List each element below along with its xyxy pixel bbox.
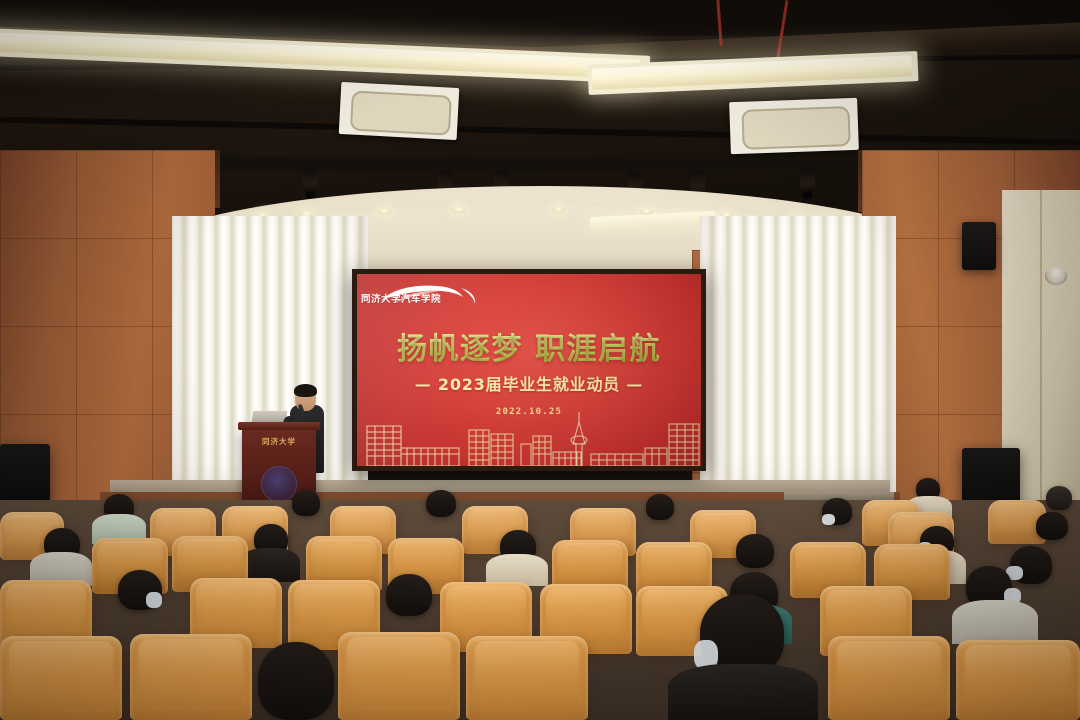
auditorium-seat (130, 634, 252, 720)
auditorium-seat (828, 636, 950, 720)
recessed-downlight (378, 208, 391, 215)
presenter-hair (294, 384, 317, 397)
seated-attendee (646, 494, 674, 520)
slide-subtitle: — 2023届毕业生就业动员 — (357, 371, 701, 395)
seated-attendee (1046, 486, 1072, 510)
slide-logo-text: 同济大学汽车学院 (361, 291, 441, 305)
ceiling-ac-vent (729, 98, 859, 154)
ceiling-ac-vent (339, 82, 460, 140)
face-mask (146, 592, 162, 608)
podium-top-surface (238, 422, 320, 430)
auditorium-seat (466, 636, 588, 720)
university-emblem (261, 466, 297, 502)
stage-curtain-right (700, 216, 896, 516)
seated-attendee (386, 574, 432, 616)
auditorium-seat (956, 640, 1080, 720)
seated-attendee (668, 664, 818, 720)
slide-title: 扬帆逐梦 职涯启航 (357, 324, 701, 368)
dome-security-camera (1045, 268, 1067, 285)
seated-attendee (240, 548, 300, 582)
stage-spotlight (800, 168, 815, 194)
auditorium-seat (0, 636, 122, 720)
seated-attendee (952, 600, 1038, 644)
podium-inscription: 同济大学 (242, 436, 316, 447)
auditorium-photo: 同济大学汽车学院 扬帆逐梦 职涯启航 — 2023届毕业生就业动员 — 2022… (0, 0, 1080, 720)
seated-attendee (426, 490, 456, 517)
recessed-downlight (640, 208, 653, 215)
seated-attendee (258, 642, 334, 720)
seated-attendee (1036, 512, 1068, 540)
seated-attendee (736, 534, 774, 568)
projection-screen: 同济大学汽车学院 扬帆逐梦 职涯启航 — 2023届毕业生就业动员 — 2022… (357, 274, 701, 466)
sprinkler-pipe (0, 117, 1080, 146)
recessed-downlight (452, 206, 465, 213)
wall-mounted-loudspeaker (962, 222, 996, 270)
face-mask (822, 514, 835, 525)
stage-spotlight (303, 168, 318, 194)
floor-standing-loudspeaker-left (0, 444, 50, 506)
auditorium-seat (338, 632, 460, 720)
recessed-downlight (552, 206, 565, 213)
seated-attendee (292, 490, 320, 516)
projection-screen-frame: 同济大学汽车学院 扬帆逐梦 职涯启航 — 2023届毕业生就业动员 — 2022… (352, 269, 706, 471)
city-skyline-silhouette (357, 410, 701, 466)
